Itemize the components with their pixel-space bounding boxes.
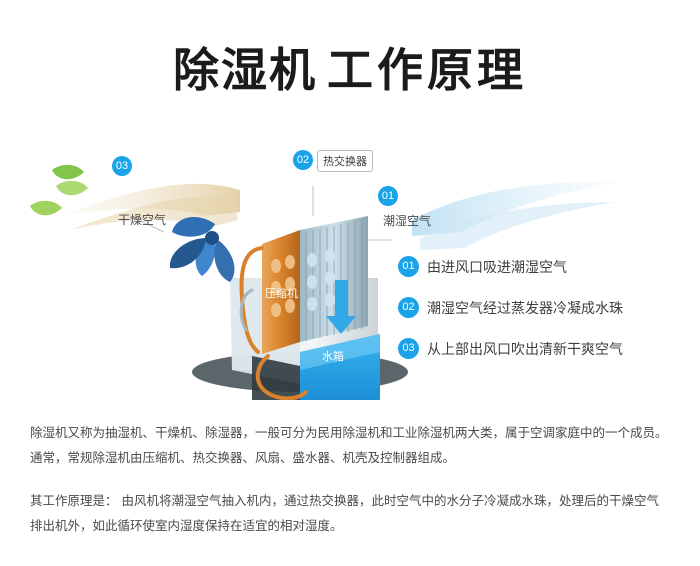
steps-list: 01 由进风口吸进潮湿空气 02 潮湿空气经过蒸发器冷凝成水珠 03 从上部出风… xyxy=(398,256,698,379)
step-badge: 02 xyxy=(398,297,419,318)
badge-03-diagram: 03 xyxy=(112,156,132,176)
paragraph-1-line-1: 除湿机又称为抽湿机、干燥机、除湿器，一般可分为民用除湿机和工业除湿机两大类，属于… xyxy=(30,420,670,445)
fan-icon xyxy=(170,217,235,282)
step-badge: 03 xyxy=(398,338,419,359)
step-item: 01 由进风口吸进潮湿空气 xyxy=(398,256,698,277)
badge-02-diagram: 02 xyxy=(293,150,313,170)
paragraph-2-line-1: 其工作原理是： 由风机将潮湿空气抽入机内，通过热交换器，此时空气中的水分子冷凝成… xyxy=(30,488,670,513)
label-heat-exchanger: 热交换器 xyxy=(317,150,373,172)
label-water-tank: 水箱 xyxy=(322,348,344,364)
label-moist-air: 潮湿空气 xyxy=(383,212,431,229)
step-item: 03 从上部出风口吹出清新干爽空气 xyxy=(398,338,698,359)
step-item: 02 潮湿空气经过蒸发器冷凝成水珠 xyxy=(398,297,698,318)
paragraph-1: 除湿机又称为抽湿机、干燥机、除湿器，一般可分为民用除湿机和工业除湿机两大类，属于… xyxy=(30,420,670,470)
page-title-sub: 工作原理 xyxy=(327,43,527,97)
step-text: 由进风口吸进潮湿空气 xyxy=(427,257,567,277)
paragraph-2: 其工作原理是： 由风机将潮湿空气抽入机内，通过热交换器，此时空气中的水分子冷凝成… xyxy=(30,488,670,538)
label-compressor: 压缩机 xyxy=(265,285,298,301)
badge-01-diagram: 01 xyxy=(378,186,398,206)
paragraph-1-line-2: 通常，常规除湿机由压缩机、热交换器、风扇、盛水器、机壳及控制器组成。 xyxy=(30,445,670,470)
leaf-icon xyxy=(30,165,88,215)
step-text: 从上部出风口吹出清新干爽空气 xyxy=(427,339,623,359)
paragraph-2-line-2: 排出机外，如此循环使室内湿度保持在适宜的相对湿度。 xyxy=(30,513,670,538)
step-text: 潮湿空气经过蒸发器冷凝成水珠 xyxy=(427,298,623,318)
moist-air-flow-shape xyxy=(412,182,620,236)
step-badge: 01 xyxy=(398,256,419,277)
page-title-main: 除湿机 xyxy=(173,43,317,97)
page-root: 除湿机工作原理 xyxy=(0,0,700,566)
page-title: 除湿机工作原理 xyxy=(0,34,700,100)
label-dry-air: 干燥空气 xyxy=(118,211,166,228)
body-copy: 除湿机又称为抽湿机、干燥机、除湿器，一般可分为民用除湿机和工业除湿机两大类，属于… xyxy=(30,420,670,538)
